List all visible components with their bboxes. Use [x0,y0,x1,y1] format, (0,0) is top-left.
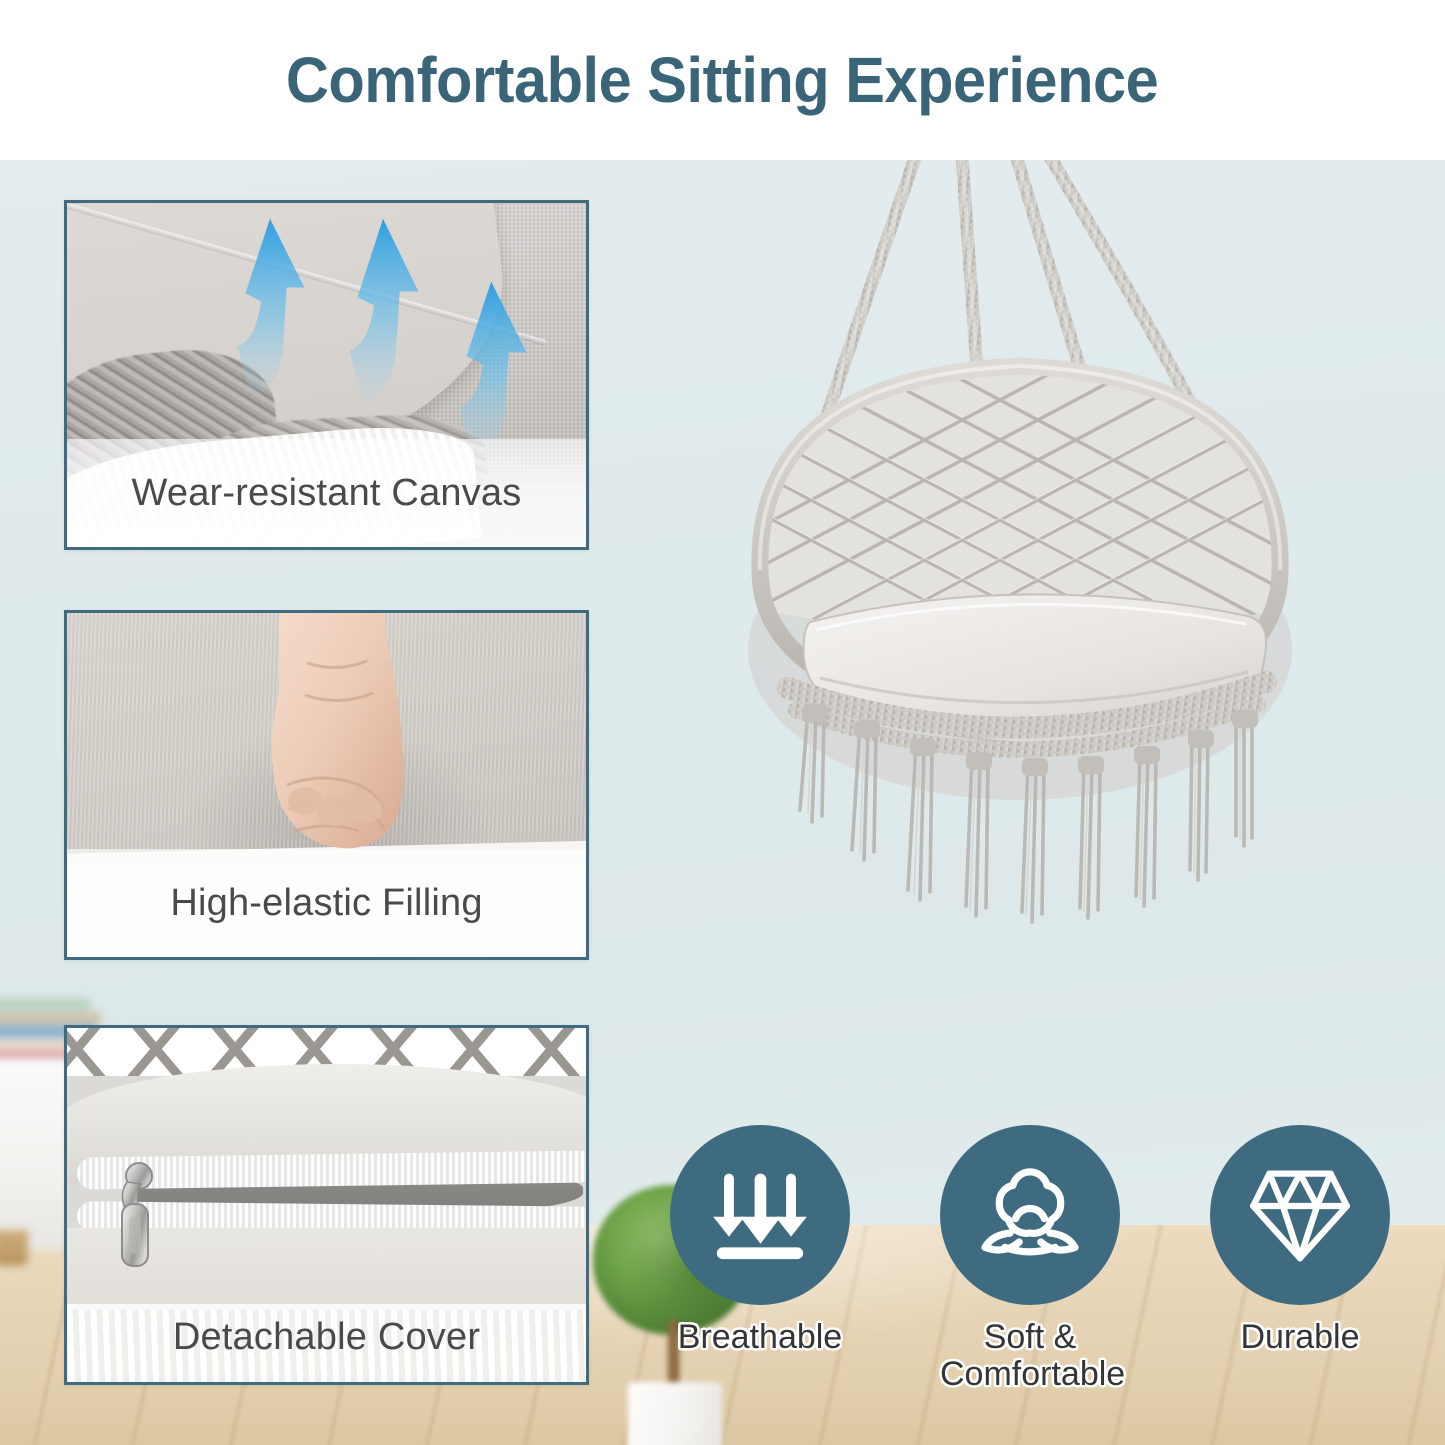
diamond-icon [1246,1161,1354,1269]
badge-soft-comfortable[interactable]: Soft & Comfortable [940,1125,1120,1392]
header-banner: Comfortable Sitting Experience [0,0,1445,160]
breathable-arrows-icon [706,1161,814,1269]
badge-circle [670,1125,850,1305]
panel-caption: Detachable Cover [67,1292,586,1382]
feature-panel-wear-resistant-canvas: Wear-resistant Canvas [64,200,589,550]
panel-caption: Wear-resistant Canvas [67,439,586,547]
caption-text: High-elastic Filling [170,882,482,925]
zipper-pull-icon [109,1160,179,1280]
badge-circle [1210,1125,1390,1305]
nightstand-leg [0,1230,28,1266]
feature-panel-high-elastic-filling: High-elastic Filling [64,610,589,960]
badge-circle [940,1125,1120,1305]
badge-label: Soft & Comfortable [940,1319,1120,1392]
badge-label: Durable [1210,1319,1390,1356]
badge-durable[interactable]: Durable [1210,1125,1390,1356]
badge-row: Breathable Soft & Comfortable [660,1125,1420,1425]
page-title: Comfortable Sitting Experience [286,43,1158,117]
caption-text: Wear-resistant Canvas [132,472,522,515]
product-feature-graphic: Wear-resistant Canvas [0,0,1445,1445]
feature-panel-detachable-cover: Detachable Cover [64,1025,589,1385]
badge-label: Breathable [670,1319,850,1356]
panel-caption: High-elastic Filling [67,849,586,957]
badge-breathable[interactable]: Breathable [670,1125,850,1356]
caption-text: Detachable Cover [173,1316,480,1359]
cotton-boll-icon [976,1161,1084,1269]
